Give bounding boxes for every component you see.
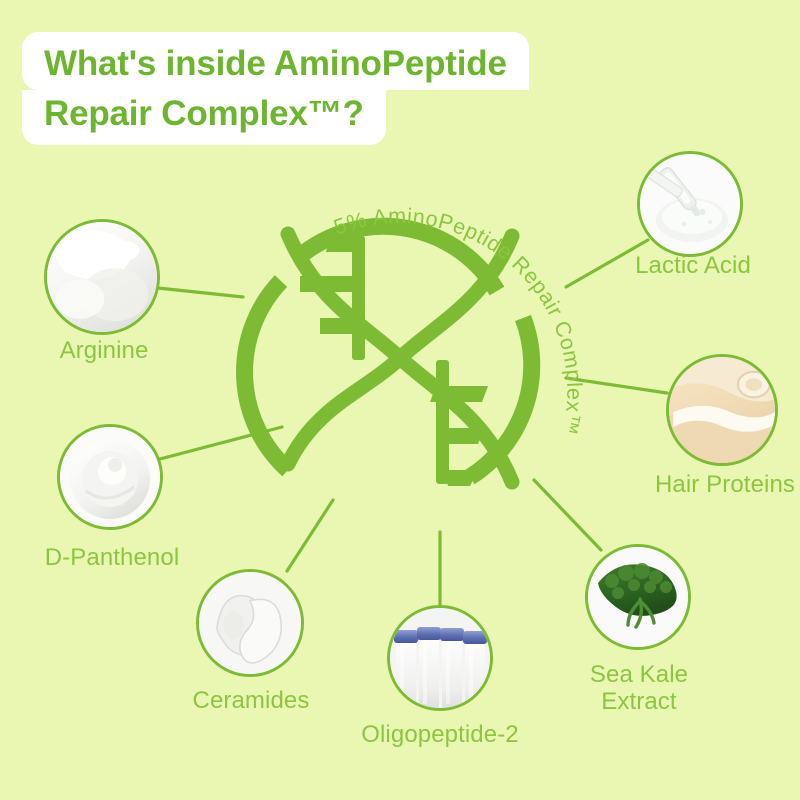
blue-cap-vials-photo — [390, 608, 490, 708]
hair-proteins-bubble[interactable] — [666, 354, 778, 466]
sea-kale-extract-label: Sea Kale Extract — [544, 662, 734, 716]
connector-ceramides — [287, 500, 333, 571]
sea-kale-extract-bubble[interactable] — [585, 544, 691, 650]
arginine-bubble[interactable] — [44, 219, 160, 335]
kale-leaf-photo — [588, 547, 688, 647]
arginine-label: Arginine — [14, 338, 194, 365]
lactic-acid-bubble[interactable] — [637, 151, 743, 257]
d-panthenol-label: D-Panthenol — [14, 545, 210, 572]
lactic-acid-label: Lactic Acid — [598, 253, 788, 280]
infographic-canvas: 5% AminoPeptide Repair Complex™ What's i… — [0, 0, 800, 800]
ceramides-bubble[interactable] — [196, 569, 304, 677]
protein-powder-photo — [669, 357, 775, 463]
white-powder-photo — [47, 222, 157, 332]
connector-arginine — [158, 288, 243, 297]
d-panthenol-bubble[interactable] — [57, 424, 163, 530]
ceramides-label: Ceramides — [158, 688, 344, 715]
oligopeptide-2-bubble[interactable] — [387, 605, 493, 711]
cream-swirl-photo — [60, 427, 160, 527]
dropper-pipette-photo — [640, 154, 740, 254]
hair-proteins-label: Hair Proteins — [628, 472, 800, 499]
dna-helix-logo — [245, 226, 532, 486]
connector-sea-kale — [534, 480, 601, 550]
cream-texture-photo — [199, 572, 301, 674]
oligopeptide-2-label: Oligopeptide-2 — [334, 722, 546, 749]
